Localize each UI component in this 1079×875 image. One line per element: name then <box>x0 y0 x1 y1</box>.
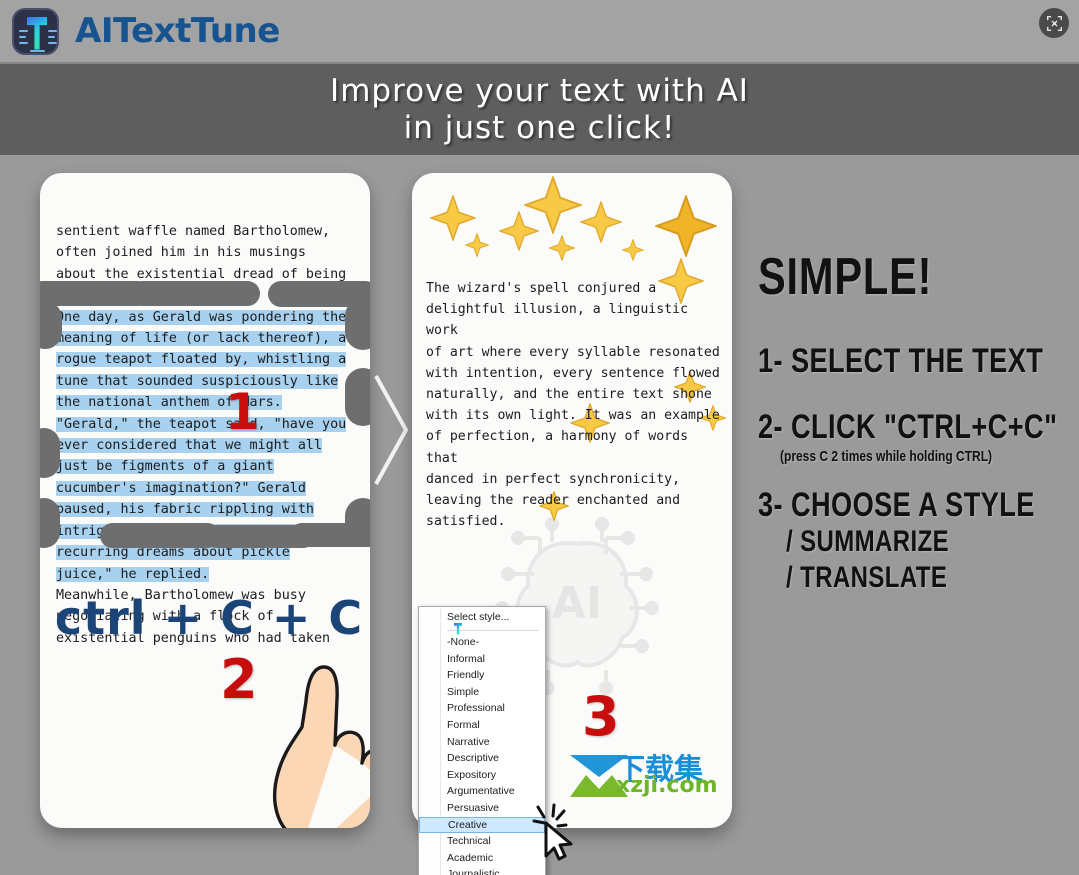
menu-item-informal[interactable]: Informal <box>419 651 545 668</box>
menu-item-expository[interactable]: Expository <box>419 767 545 784</box>
instructions-column: SIMPLE! 1- SELECT THE TEXT 2- CLICK "CTR… <box>758 250 1068 596</box>
step-badge-2: 2 <box>220 648 258 711</box>
tagline-banner: Improve your text with AI in just one cl… <box>0 62 1079 155</box>
source-text-body: sentient waffle named Bartholomew, often… <box>56 221 360 649</box>
illustration-stage: sentient waffle named Bartholomew, often… <box>0 155 1079 875</box>
tagline-line-1: Improve your text with AI <box>330 73 749 110</box>
shortcut-label: ctrl + C + C <box>44 591 370 645</box>
menu-item-technical[interactable]: Technical <box>419 833 545 850</box>
menu-item-label: Friendly <box>447 669 484 681</box>
menu-item-creative[interactable]: Creative <box>419 817 545 834</box>
tagline-line-2: in just one click! <box>404 110 676 147</box>
instruction-step-1: 1- SELECT THE TEXT <box>758 342 1006 380</box>
menu-item-label: Journalistic <box>447 868 500 875</box>
step-badge-3: 3 <box>582 685 620 748</box>
step-badge-1: 1 <box>225 383 260 441</box>
app-title: AITextTune <box>75 11 280 51</box>
menu-item-persuasive[interactable]: Persuasive <box>419 800 545 817</box>
source-text-selection: One day, as Gerald was pondering the mea… <box>56 310 346 582</box>
menu-title-select-style: Select style... <box>419 608 545 627</box>
menu-item-descriptive[interactable]: Descriptive <box>419 750 545 767</box>
app-header: AITextTune <box>0 0 1079 62</box>
instruction-step-3-alt-2: / TRANSLATE <box>786 560 1012 596</box>
source-text-card[interactable]: sentient waffle named Bartholomew, often… <box>40 173 370 828</box>
menu-item-label: Persuasive <box>447 802 499 814</box>
menu-item-label: Narrative <box>447 736 490 748</box>
aitexttune-logo-icon <box>12 8 59 55</box>
mouse-cursor-icon <box>532 803 580 861</box>
menu-separator <box>447 630 539 631</box>
menu-item-label: Academic <box>447 852 493 864</box>
menu-item-label: -None- <box>447 636 479 648</box>
instruction-step-3-alt-1: / SUMMARIZE <box>786 524 1012 560</box>
menu-item-label: Technical <box>447 835 491 847</box>
transform-arrow-icon <box>370 370 416 490</box>
menu-item-friendly[interactable]: Friendly <box>419 667 545 684</box>
sparkle-icon <box>655 195 717 257</box>
instructions-headline: SIMPLE! <box>758 250 1006 304</box>
menu-item-label: Creative <box>448 819 487 831</box>
instruction-step-2: 2- CLICK "CTRL+C+C" <box>758 408 1006 446</box>
menu-item-professional[interactable]: Professional <box>419 700 545 717</box>
watermark-en-text: xzji.com <box>616 773 718 798</box>
menu-item-label: Simple <box>447 686 479 698</box>
instruction-step-3: 3- CHOOSE A STYLE <box>758 486 1006 524</box>
result-text-body: The wizard's spell conjured a delightful… <box>426 278 722 532</box>
menu-item-formal[interactable]: Formal <box>419 717 545 734</box>
menu-item-journalistic[interactable]: Journalistic <box>419 866 545 875</box>
sparkle-icon <box>465 233 489 257</box>
site-watermark: 下载集 xzji.com <box>568 749 728 801</box>
menu-item-simple[interactable]: Simple <box>419 684 545 701</box>
source-text-pre: sentient waffle named Bartholomew, often… <box>56 224 346 303</box>
instruction-step-2-note: (press C 2 times while holding CTRL) <box>780 448 1010 466</box>
menu-item-label: Formal <box>447 719 480 731</box>
menu-item-none[interactable]: -None- <box>419 634 545 651</box>
menu-item-label: Professional <box>447 702 505 714</box>
menu-item-label: Expository <box>447 769 496 781</box>
style-context-menu[interactable]: Select style... -None- Informal Friendly… <box>418 606 546 875</box>
menu-title-label: Select style... <box>447 611 509 623</box>
sparkle-icon <box>549 235 575 261</box>
sparkle-icon <box>580 201 622 243</box>
sparkle-icon <box>499 211 539 251</box>
menu-item-narrative[interactable]: Narrative <box>419 734 545 751</box>
menu-item-label: Informal <box>447 653 485 665</box>
menu-item-label: Descriptive <box>447 752 499 764</box>
menu-item-academic[interactable]: Academic <box>419 850 545 867</box>
menu-item-argumentative[interactable]: Argumentative <box>419 783 545 800</box>
menu-item-label: Argumentative <box>447 785 515 797</box>
screenshot-capture-icon[interactable] <box>1039 8 1069 38</box>
sparkle-icon <box>622 239 644 261</box>
ai-brain-label: AI <box>552 578 602 629</box>
pointing-hand-illustration <box>258 641 370 828</box>
